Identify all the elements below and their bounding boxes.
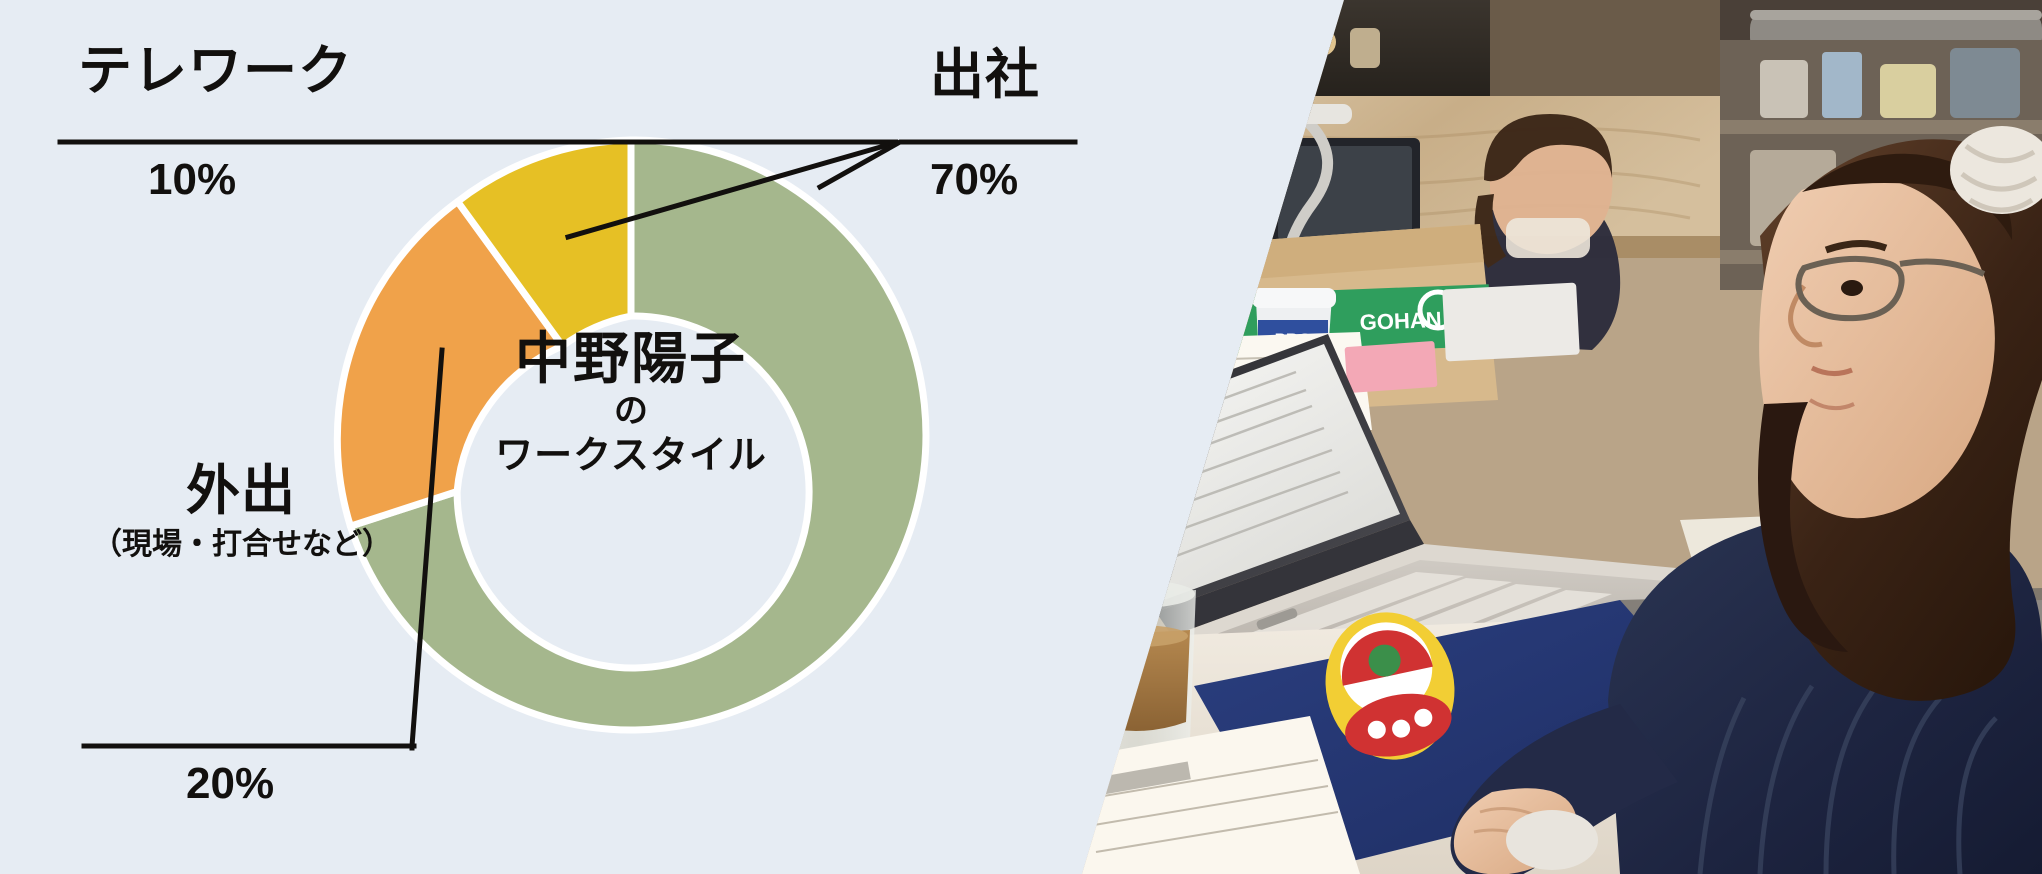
workstyle-photo: GOHAN PRO xyxy=(1060,0,2042,874)
infographic-canvas: GOHAN PRO xyxy=(0,0,2042,874)
center-label: 中野陽子 の ワークスタイル xyxy=(451,330,811,478)
svg-text:GOHAN: GOHAN xyxy=(1359,307,1442,335)
center-subject: ワークスタイル xyxy=(451,435,811,479)
center-particle: の xyxy=(451,389,811,435)
label-telework-name: テレワーク xyxy=(78,44,353,98)
photo-svg: GOHAN PRO xyxy=(1060,0,2042,874)
center-person-name: 中野陽子 xyxy=(451,330,811,389)
label-commute-name: 出社 xyxy=(930,48,1040,102)
photo-content: GOHAN PRO xyxy=(1060,0,2042,874)
label-outing-name: 外出 xyxy=(186,464,296,518)
slice-telework xyxy=(458,140,631,346)
leader-line-outing-stem xyxy=(412,350,442,748)
notepad xyxy=(1060,716,1360,874)
label-outing-note: （現場・打合せなど） xyxy=(92,530,392,560)
label-commute-percent: 70% xyxy=(930,158,1018,202)
coffee-glass xyxy=(1079,580,1196,750)
label-outing-percent: 20% xyxy=(186,762,274,806)
label-telework-percent: 10% xyxy=(148,158,236,202)
